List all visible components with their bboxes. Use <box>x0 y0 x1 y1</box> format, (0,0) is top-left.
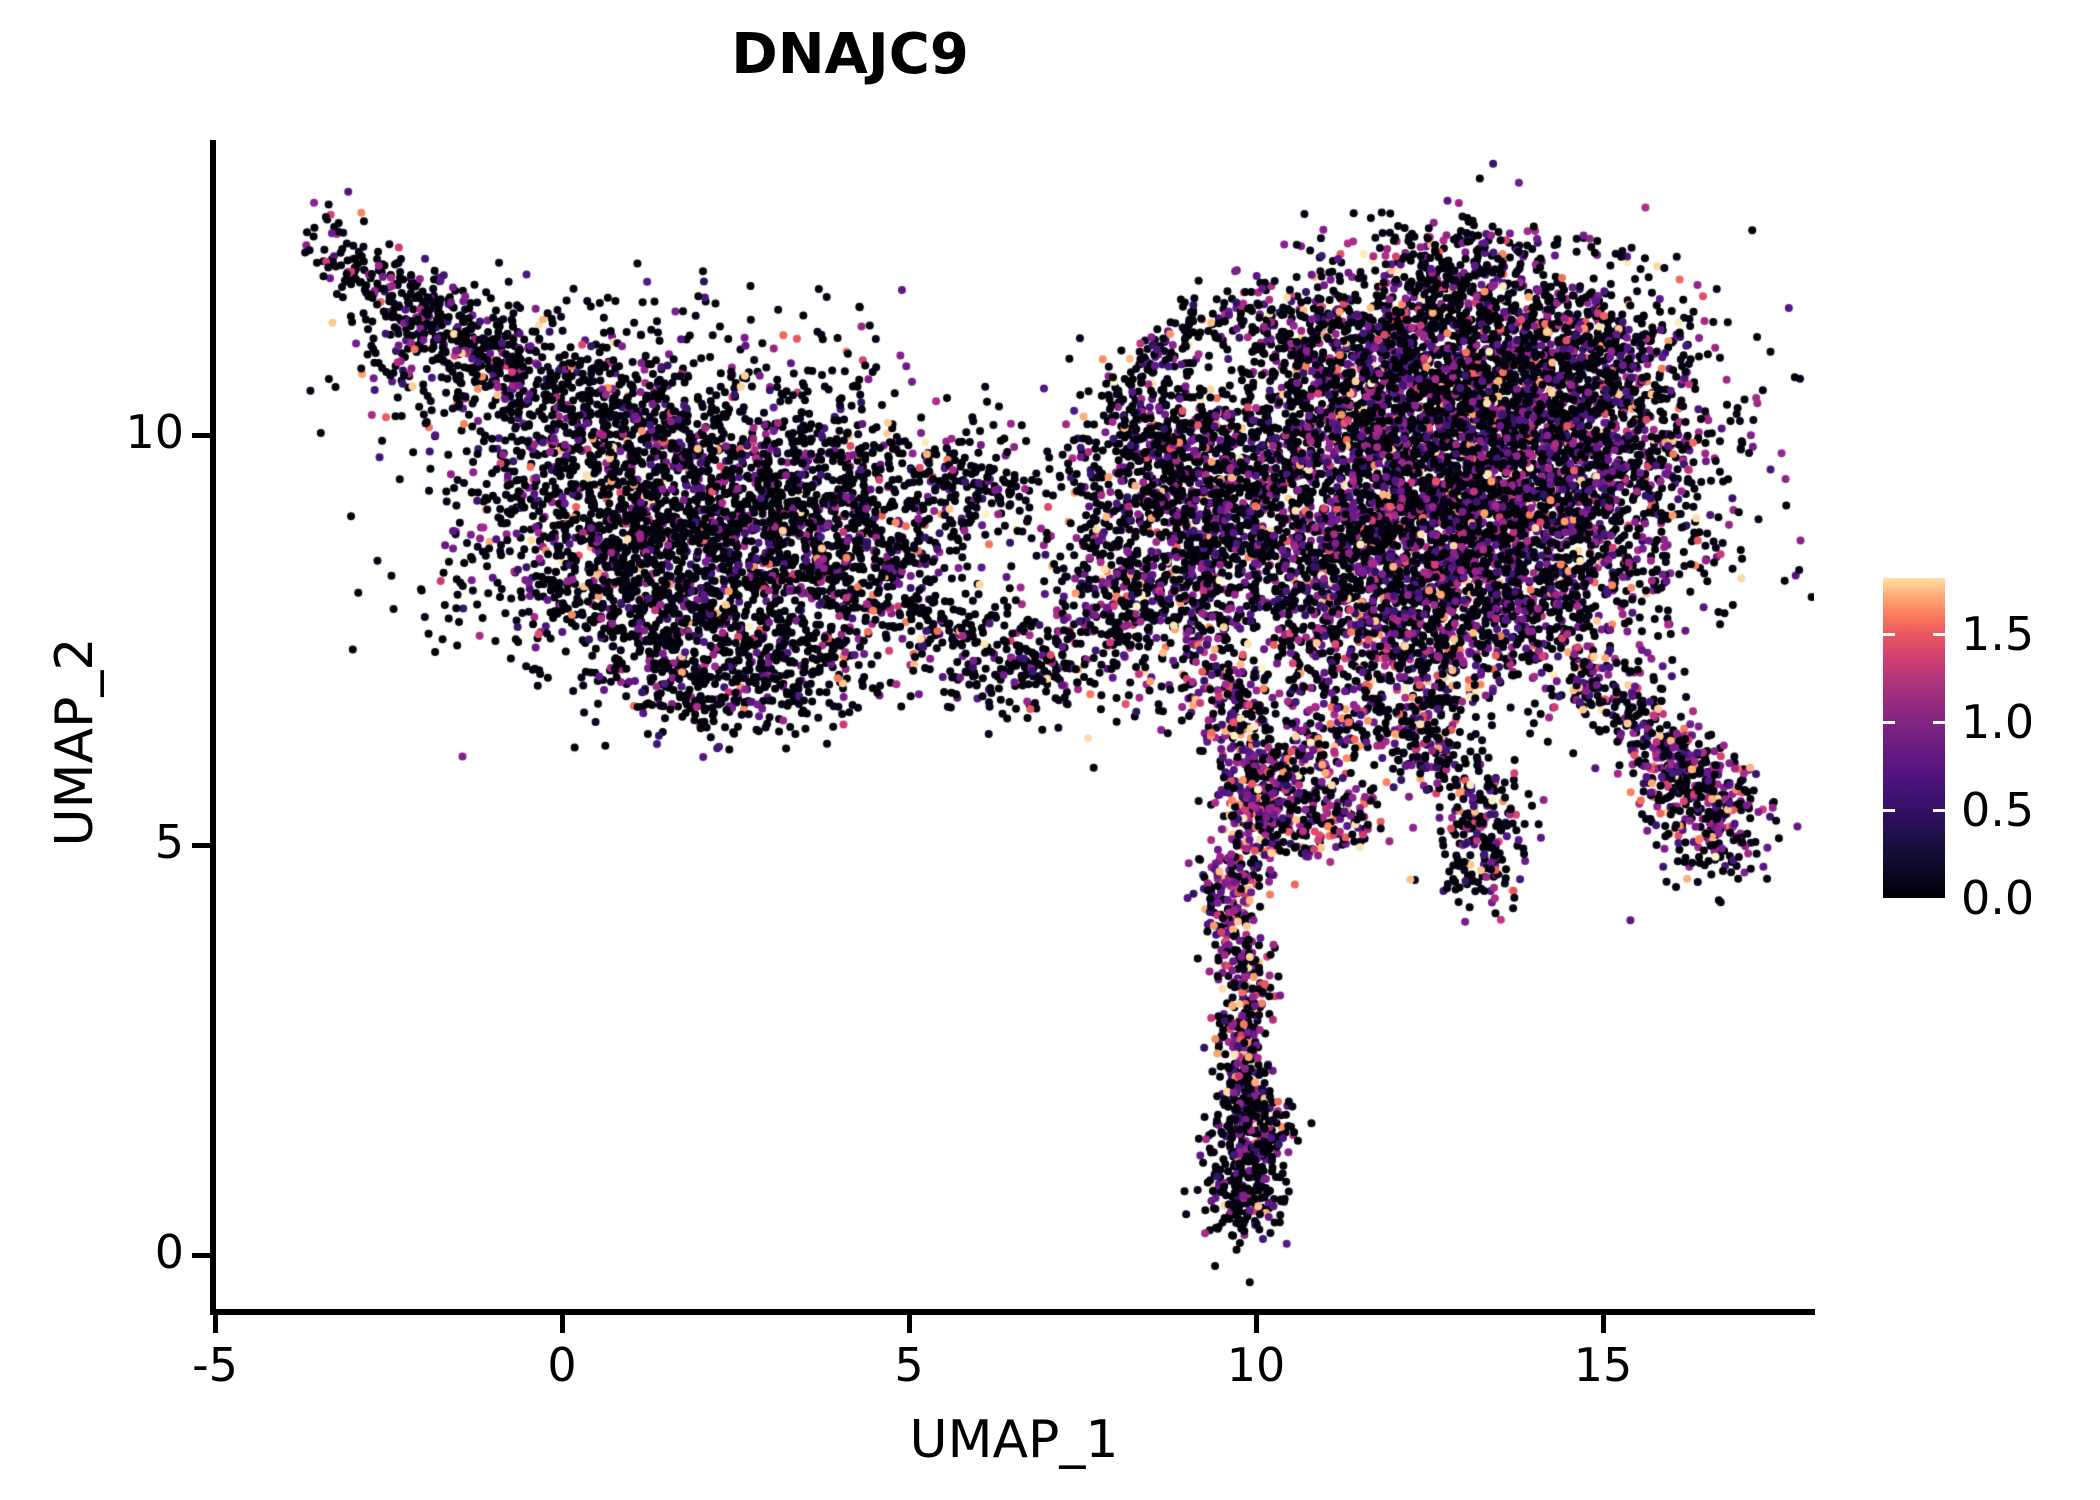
colorbar-tick-mark <box>1883 721 1895 724</box>
y-tick-mark <box>192 843 210 848</box>
x-tick-mark <box>213 1315 218 1333</box>
x-tick-mark <box>1601 1315 1606 1333</box>
x-tick-label: 10 <box>1227 1338 1286 1392</box>
x-tick-mark <box>1254 1315 1259 1333</box>
y-tick-label: 10 <box>125 405 184 459</box>
colorbar-tick-label: 1.0 <box>1961 695 2034 749</box>
colorbar-gradient <box>1883 578 1945 898</box>
x-axis-spine <box>210 1309 1815 1315</box>
x-tick-label: 0 <box>547 1338 576 1392</box>
colorbar: 0.00.51.01.5 <box>1883 578 1945 898</box>
page-title: DNAJC9 <box>0 22 1700 87</box>
colorbar-tick-mark <box>1933 721 1945 724</box>
colorbar-tick-mark <box>1883 633 1895 636</box>
x-tick-mark <box>907 1315 912 1333</box>
colorbar-tick-label: 1.5 <box>1961 607 2034 661</box>
y-tick-mark <box>192 1253 210 1258</box>
y-tick-label: 0 <box>155 1225 184 1279</box>
colorbar-tick-mark <box>1933 809 1945 812</box>
x-tick-label: -5 <box>192 1338 238 1392</box>
x-tick-label: 15 <box>1574 1338 1633 1392</box>
colorbar-tick-label: 0.0 <box>1961 871 2034 925</box>
y-tick-mark <box>192 433 210 438</box>
y-axis-title: UMAP_2 <box>45 412 105 1072</box>
colorbar-tick-label: 0.5 <box>1961 783 2034 837</box>
x-axis-title: UMAP_1 <box>214 1410 1814 1470</box>
y-axis-spine <box>210 140 216 1315</box>
scatter-points-canvas <box>214 140 1814 1315</box>
umap-feature-plot: DNAJC9 0510 -5051015 UMAP_1 UMAP_2 0.00.… <box>0 0 2100 1500</box>
colorbar-tick-mark <box>1933 633 1945 636</box>
scatter-plot-area <box>214 140 1814 1315</box>
x-tick-mark <box>560 1315 565 1333</box>
x-tick-label: 5 <box>894 1338 923 1392</box>
colorbar-tick-mark <box>1883 809 1895 812</box>
y-tick-label: 5 <box>155 815 184 869</box>
